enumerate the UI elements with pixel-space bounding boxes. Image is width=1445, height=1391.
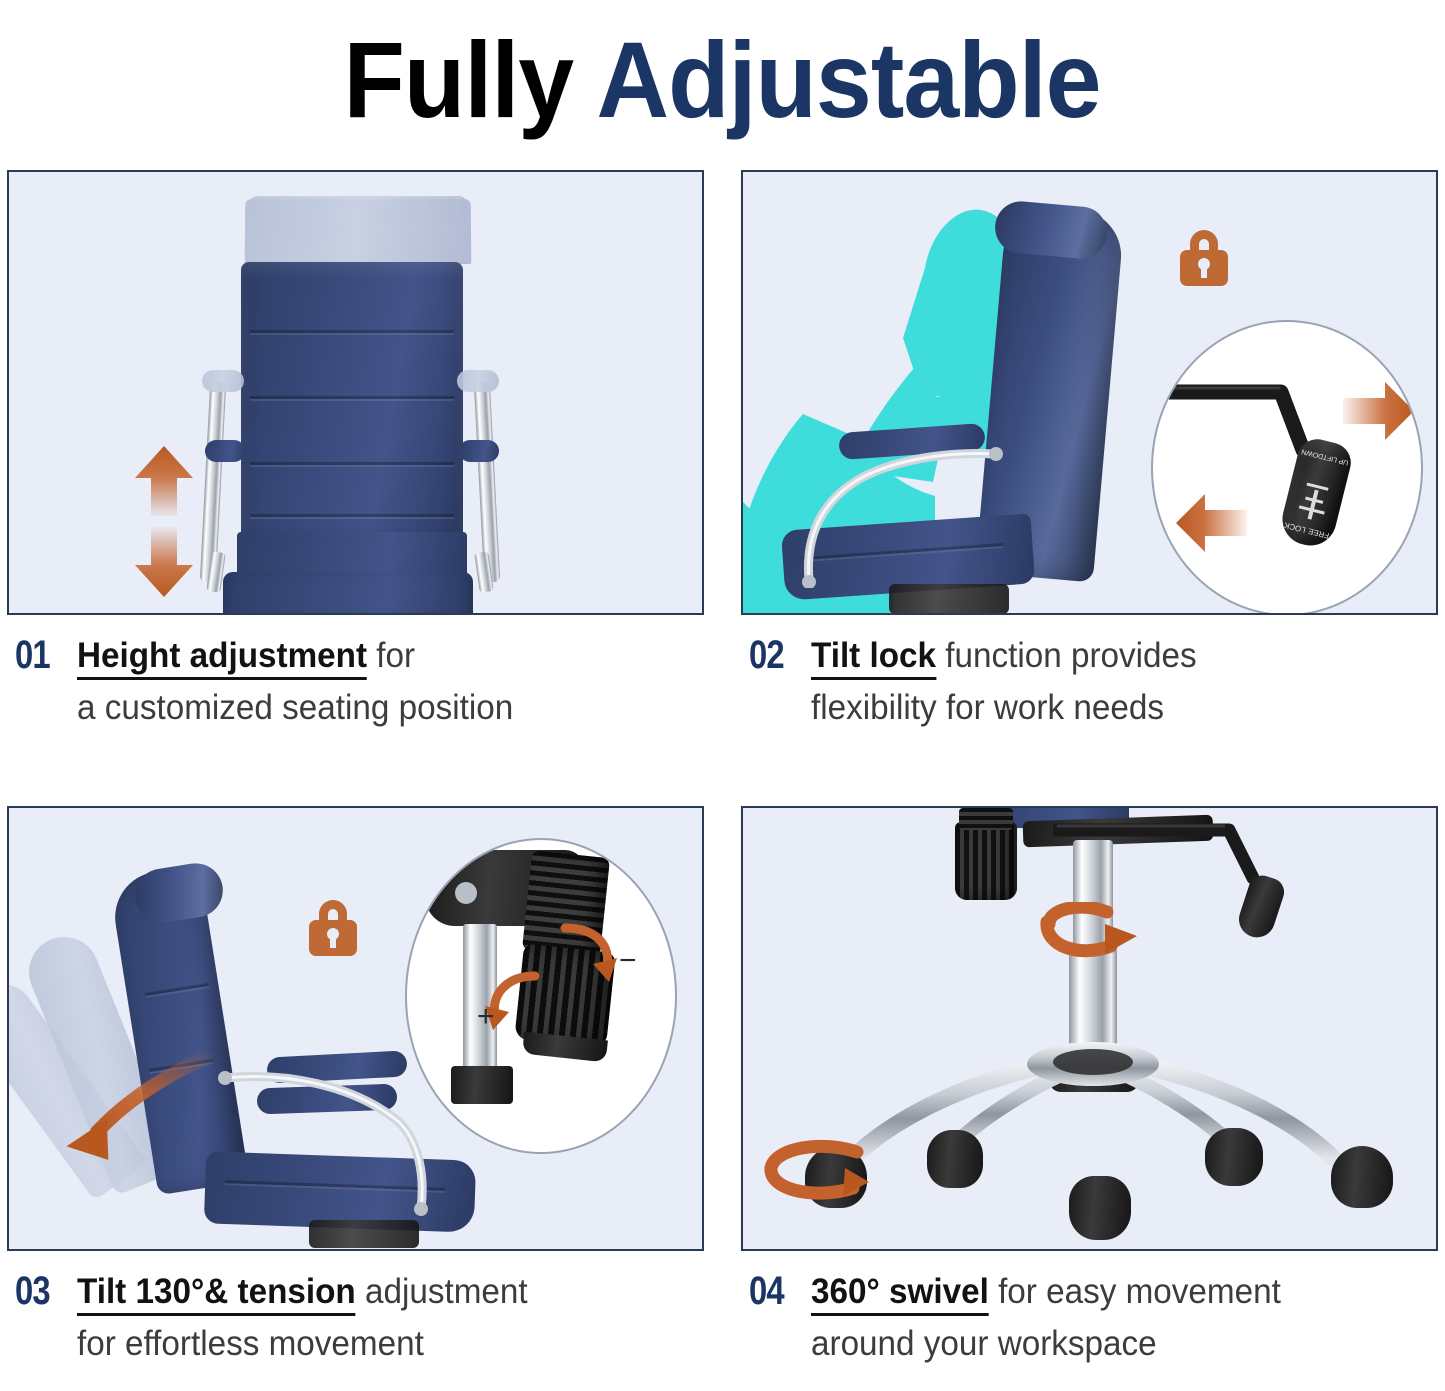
caster-wheel xyxy=(1205,1128,1263,1186)
tilt-lock-callout: FREE LOCK UP LIFT DOWN xyxy=(1151,320,1423,615)
chair-armrest-pad-left-lower xyxy=(205,440,245,462)
caster-wheel xyxy=(1069,1176,1131,1240)
feature-line2-03: for effortless movement xyxy=(77,1321,673,1367)
feature-text-01: Height adjustment for a customized seati… xyxy=(77,633,673,731)
chair-armrest-chrome-loop xyxy=(213,1066,433,1216)
page-title: Fully Adjustable xyxy=(344,26,1101,134)
caster-wheel xyxy=(1331,1146,1393,1208)
feature-text-04: 360° swivel for easy movement around you… xyxy=(811,1269,1407,1367)
feature-strong-02: Tilt lock xyxy=(811,636,936,680)
feature-text-03: Tilt 130°& tension adjustment for effort… xyxy=(77,1269,673,1367)
chair-armrest-pad-left-upper xyxy=(202,370,244,392)
feature-caption-02: 02 Tilt lock function provides flexibili… xyxy=(741,633,1438,731)
feature-caption-04: 04 360° swivel for easy movement around … xyxy=(741,1269,1438,1367)
caster-rotation-arrow-icon xyxy=(761,1138,871,1204)
feature-cell-03: + − 03 Tilt 130°& tension adjustment for… xyxy=(7,806,704,1367)
feature-number-03: 03 xyxy=(15,1269,66,1313)
chair-headrest-ghost xyxy=(249,196,467,222)
feature-cell-02: FREE LOCK UP LIFT DOWN xyxy=(741,170,1438,731)
chair-armrest-pad-right-lower xyxy=(459,440,499,462)
lock-icon xyxy=(307,900,359,958)
knob-label-increase: + xyxy=(477,1000,495,1034)
tension-knob-bellows xyxy=(959,808,1013,830)
feature-line2-02: flexibility for work needs xyxy=(811,685,1407,731)
chair-armrest-pad-right-upper xyxy=(457,370,499,392)
page-title-part-navy: Adjustable xyxy=(597,19,1101,140)
lock-keyhole-stem xyxy=(1201,266,1207,278)
backrest-seam xyxy=(250,514,454,517)
feature-rest-02: function provides xyxy=(936,636,1197,675)
feature-strong-04: 360° swivel xyxy=(811,1272,989,1316)
lock-shackle xyxy=(1190,230,1218,252)
knob-label-decrease: − xyxy=(619,944,637,978)
swivel-base-illustration xyxy=(741,806,1438,1251)
feature-number-01: 01 xyxy=(15,633,66,677)
tension-knob xyxy=(955,822,1017,900)
swivel-rotation-arrow-icon xyxy=(1033,902,1153,964)
chair-backrest xyxy=(241,262,463,550)
lock-keyhole-stem xyxy=(330,936,336,948)
feature-number-04: 04 xyxy=(749,1269,800,1313)
tilt-tension-illustration: + − xyxy=(7,806,704,1251)
height-adjustment-illustration xyxy=(7,170,704,615)
lever-label-free: FREE xyxy=(1307,526,1330,540)
chair-base-side xyxy=(889,584,1009,614)
feature-number-02: 02 xyxy=(749,633,800,677)
arrow-down-icon xyxy=(131,527,197,599)
feature-caption-03: 03 Tilt 130°& tension adjustment for eff… xyxy=(7,1269,704,1367)
lever-label-down: DOWN xyxy=(1301,447,1324,459)
feature-rest-01: for xyxy=(367,636,415,675)
feature-line2-01: a customized seating position xyxy=(77,685,673,731)
tension-housing-dot xyxy=(455,882,477,904)
feature-rest-03: adjustment xyxy=(356,1272,528,1311)
lock-shackle xyxy=(319,900,347,922)
chair-base-side xyxy=(309,1220,419,1248)
backrest-seam xyxy=(250,396,454,399)
feature-caption-01: 01 Height adjustment for a customized se… xyxy=(7,633,704,731)
gas-lift-base-cap xyxy=(451,1066,513,1104)
arrow-up-icon xyxy=(131,444,197,516)
rotate-minus-icon xyxy=(551,916,621,986)
arrow-right-icon xyxy=(1343,380,1415,442)
feature-strong-01: Height adjustment xyxy=(77,636,367,680)
backrest-seam xyxy=(250,462,454,465)
backrest-seam xyxy=(250,330,454,333)
chair-armrest-chrome-loop xyxy=(799,438,1009,588)
arrow-left-icon xyxy=(1175,492,1247,554)
feature-text-02: Tilt lock function provides flexibility … xyxy=(811,633,1407,731)
lever-label-lock: LOCK xyxy=(1283,520,1306,534)
lock-icon xyxy=(1178,230,1230,288)
chair-headrest-roll xyxy=(131,859,226,926)
caster-wheel xyxy=(927,1130,983,1188)
page-title-part-black: Fully xyxy=(344,19,597,140)
chair-seat xyxy=(223,572,473,615)
page-title-bar: Fully Adjustable xyxy=(0,0,1445,160)
feature-cell-01: 01 Height adjustment for a customized se… xyxy=(7,170,704,731)
tilt-lock-illustration: FREE LOCK UP LIFT DOWN xyxy=(741,170,1438,615)
lever-label-up-lift: UP LIFT xyxy=(1322,453,1349,466)
lever-glyph xyxy=(1297,473,1333,522)
feature-line2-04: around your workspace xyxy=(811,1321,1407,1367)
feature-cell-04: 04 360° swivel for easy movement around … xyxy=(741,806,1438,1367)
tension-knob-callout: + − xyxy=(405,838,677,1154)
feature-strong-03: Tilt 130°& tension xyxy=(77,1272,356,1316)
feature-rest-04: for easy movement xyxy=(989,1272,1281,1311)
curved-arrow-icon xyxy=(45,1050,215,1170)
